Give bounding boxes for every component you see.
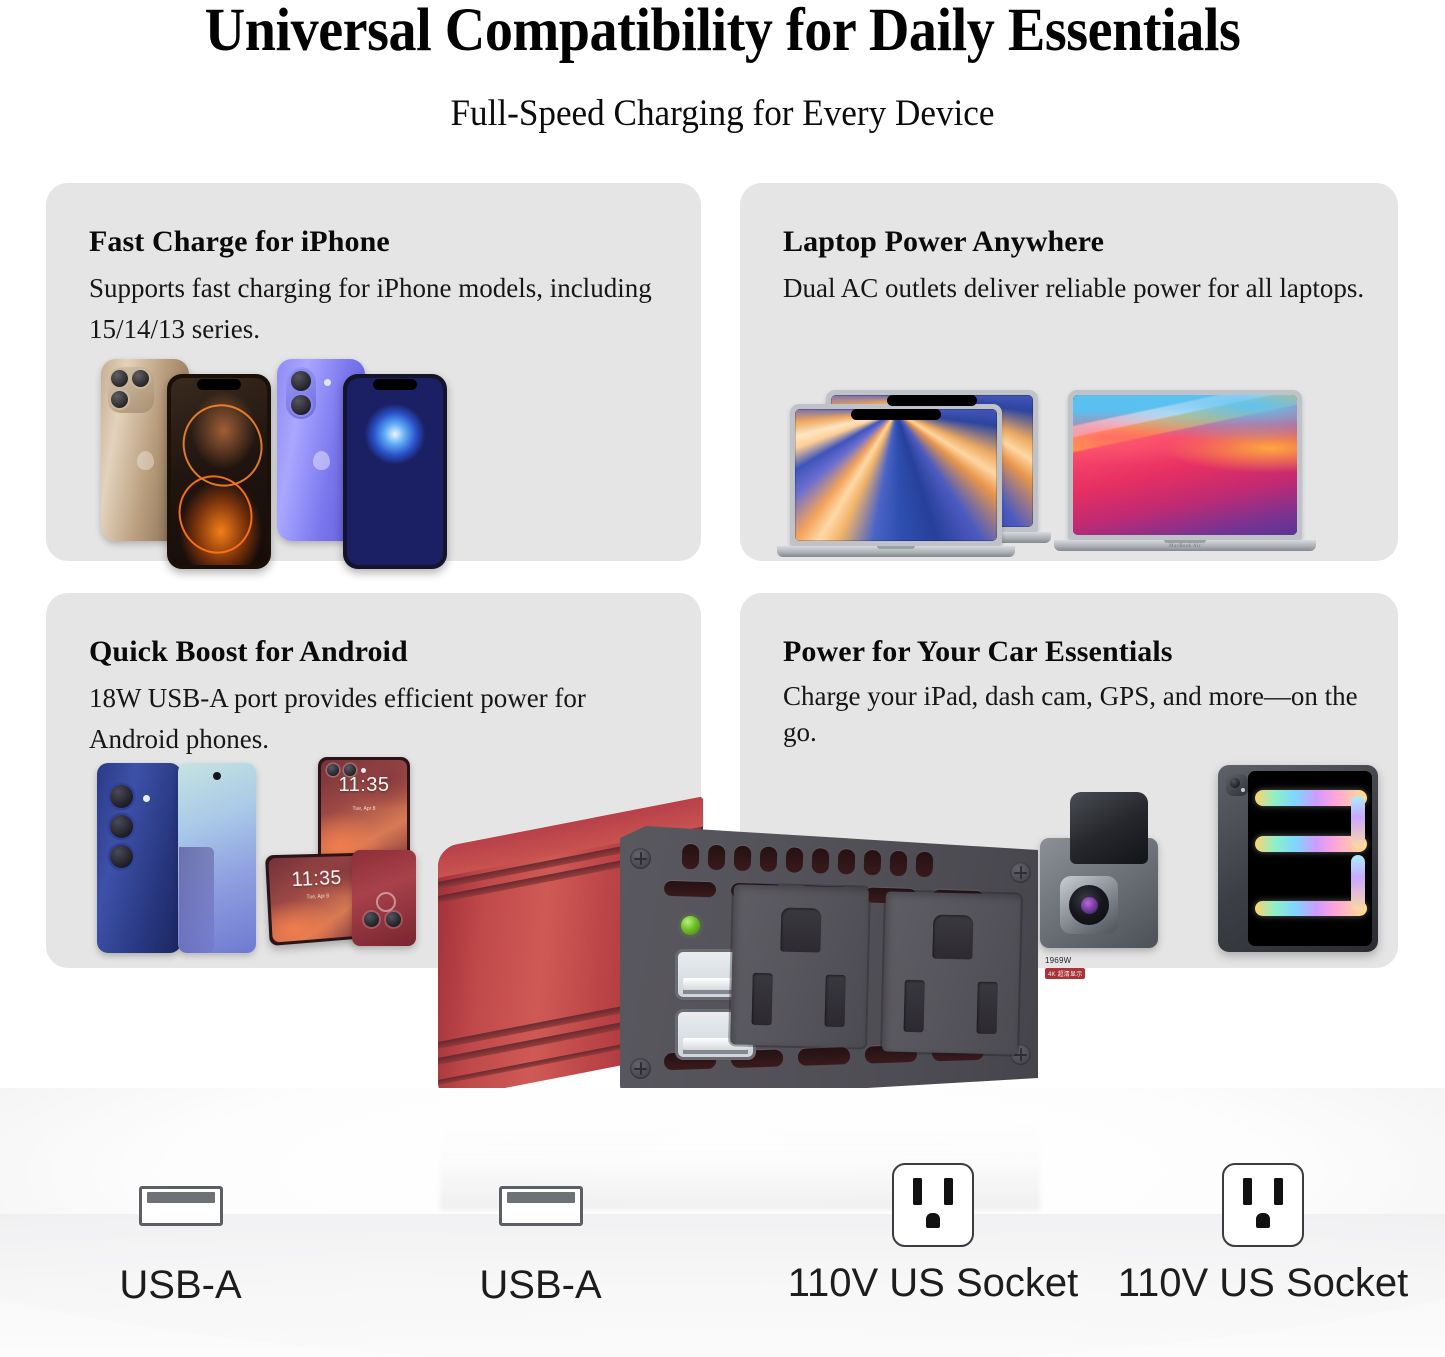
macbook-wallpaper-bigsur — [1073, 395, 1297, 535]
ipad-pro-image — [1218, 765, 1378, 952]
dynamic-island-icon — [373, 379, 417, 390]
feature-card-body: Supports fast charging for iPhone models… — [89, 268, 677, 350]
razr-clock-time: 11:35 — [266, 866, 365, 893]
feature-card-heading: Quick Boost for Android — [89, 635, 408, 669]
iphone-wallpaper-orange — [171, 378, 267, 565]
port-legend-socket-2: 110V US Socket — [1108, 1163, 1418, 1306]
page-subtitle: Full-Speed Charging for Every Device — [36, 92, 1409, 135]
dash-cam-image: 1969W 4K 超清显示 — [1040, 792, 1175, 952]
galaxy-fold-front-image — [178, 763, 256, 953]
screw-icon — [1010, 862, 1031, 883]
power-inverter-product-image — [432, 826, 1046, 1126]
usb-a-icon — [139, 1186, 223, 1226]
camera-module-icon — [286, 367, 316, 419]
usb-a-icon — [499, 1186, 583, 1226]
infographic-canvas: Universal Compatibility for Daily Essent… — [0, 0, 1445, 1357]
camera-module-icon — [108, 367, 154, 413]
dash-cam-lens — [1060, 876, 1118, 934]
feature-card-heading: Laptop Power Anywhere — [783, 225, 1104, 259]
apple-logo-icon — [137, 451, 154, 470]
inverter-ac-outlet-2 — [882, 891, 1021, 1054]
inverter-ac-outlet-1 — [730, 884, 869, 1047]
fold-crease — [179, 847, 214, 953]
dynamic-island-icon — [197, 379, 241, 390]
webcam-notch-icon — [851, 409, 940, 420]
galaxy-fold-back-image — [97, 763, 181, 953]
razr-clock-time: 11:35 — [318, 774, 410, 797]
screw-icon — [630, 848, 651, 869]
dash-cam-model-code: 1969W — [1045, 956, 1071, 965]
feature-card-heading: Fast Charge for iPhone — [89, 225, 390, 259]
feature-card-body: Dual AC outlets deliver reliable power f… — [783, 268, 1374, 309]
apple-logo-icon — [313, 451, 330, 470]
iphone-wallpaper-blue — [347, 378, 443, 565]
camera-module-icon — [1226, 774, 1248, 796]
macbook-wallpaper-rays — [795, 409, 997, 541]
port-label: 110V US Socket — [778, 1261, 1088, 1306]
razr-back-image — [352, 850, 416, 946]
us-socket-icon — [892, 1163, 974, 1247]
macbook-bigsur-image: MacBook Air — [1068, 390, 1302, 540]
screw-icon — [630, 1058, 651, 1079]
macbook-label: MacBook Air — [1068, 544, 1302, 549]
laptop-base — [777, 546, 1014, 557]
port-legend-usb-a-1: USB-A — [68, 1186, 293, 1308]
iphone-purple-front-image — [343, 374, 447, 569]
razr-open-image: 11:35 Tue, Apr 8 — [318, 757, 410, 864]
us-socket-icon — [1222, 1163, 1304, 1247]
page-title: Universal Compatibility for Daily Essent… — [58, 0, 1387, 66]
razr-clock-date: Tue, Apr 8 — [318, 806, 410, 812]
motorola-logo-icon — [376, 892, 396, 912]
ipad-wallpaper-m4 — [1248, 771, 1372, 946]
port-legend-socket-1: 110V US Socket — [778, 1163, 1088, 1306]
feature-card-body: 18W USB-A port provides efficient power … — [89, 678, 677, 760]
power-led-green — [681, 916, 700, 935]
port-label: USB-A — [428, 1263, 653, 1308]
webcam-notch-icon — [887, 395, 976, 406]
iphone-gold-front-image — [167, 374, 271, 569]
port-label: 110V US Socket — [1108, 1261, 1418, 1306]
front-camera-icon — [213, 772, 221, 780]
macbook-air-front-image — [790, 404, 1002, 546]
port-legend-usb-a-2: USB-A — [428, 1186, 653, 1308]
flash-icon — [324, 379, 331, 386]
dash-cam-badge: 4K 超清显示 — [1045, 968, 1085, 979]
feature-card-body: Charge your iPad, dash cam, GPS, and mor… — [783, 678, 1374, 750]
feature-card-heading: Power for Your Car Essentials — [783, 635, 1173, 669]
flash-icon — [143, 795, 150, 802]
port-label: USB-A — [68, 1263, 293, 1308]
dash-cam-mount — [1070, 792, 1148, 864]
